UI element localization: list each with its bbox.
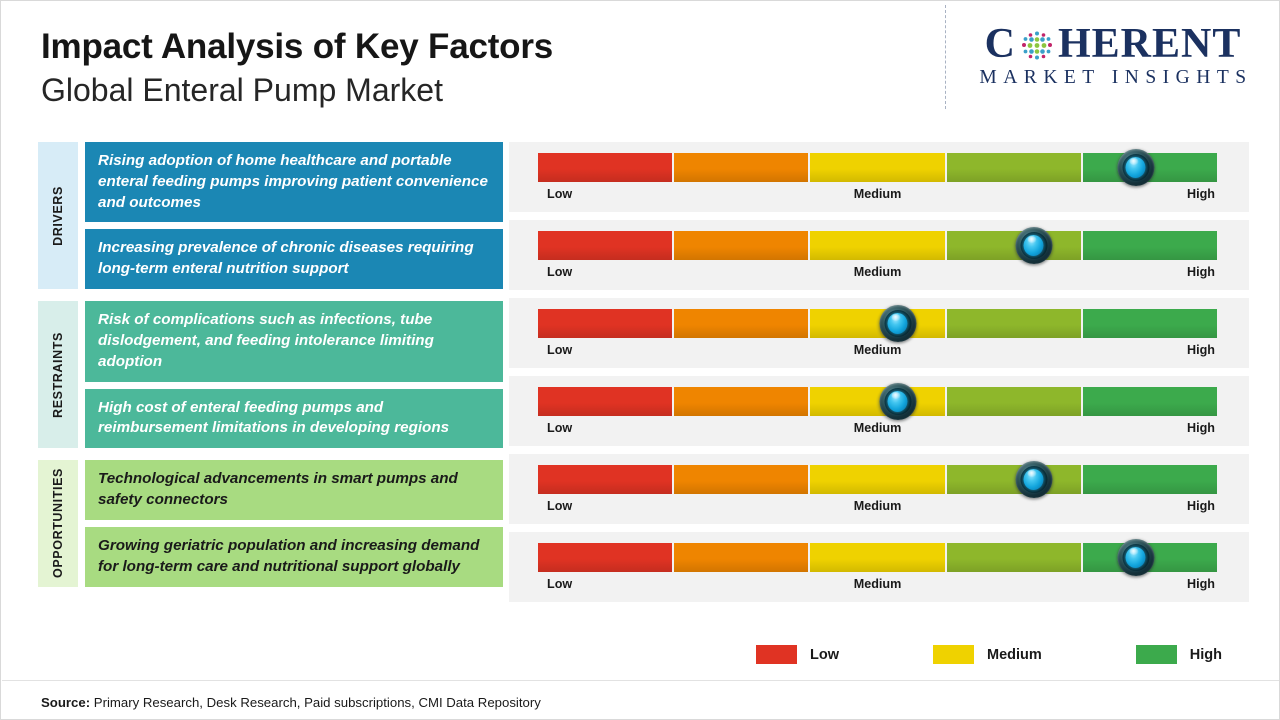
gauge-row: LowMediumHigh [509,298,1249,368]
gauge-marker-knob-icon[interactable] [879,383,916,420]
page-subtitle: Global Enteral Pump Market [41,72,553,109]
category-group-drivers: DRIVERS Rising adoption of home healthca… [38,142,503,289]
gauge-marker-knob-icon[interactable] [1015,227,1052,264]
legend-swatch [1136,645,1177,664]
legend-label: High [1190,647,1222,663]
gauge-segment-3 [810,543,944,572]
gauge-label-medium: Medium [854,577,902,591]
gauge-marker-knob-icon[interactable] [879,305,916,342]
category-label-restraints: RESTRAINTS [38,301,78,448]
category-boxes-restraints: Risk of complications such as infections… [85,301,503,448]
gauge-segment-3 [810,153,944,182]
gauge-label-high: High [1187,421,1215,435]
gauge-segment-2 [674,231,808,260]
gauge-label-medium: Medium [854,343,902,357]
factor-box: Technological advancements in smart pump… [85,460,503,520]
gauge-row: LowMediumHigh [509,532,1249,602]
gauge-label-low: Low [547,577,572,591]
category-boxes-drivers: Rising adoption of home healthcare and p… [85,142,503,289]
legend-item: Low [756,645,839,664]
gauge-row: LowMediumHigh [509,454,1249,524]
category-group-restraints: RESTRAINTS Risk of complications such as… [38,301,503,448]
gauge-segment-5 [1083,309,1217,338]
legend-label: Medium [987,647,1042,663]
gauge-scale-labels: LowMediumHigh [538,577,1217,597]
gauge-segment-2 [674,309,808,338]
legend-swatch [756,645,797,664]
legend: LowMediumHigh [756,645,1216,664]
gauge-scale-labels: LowMediumHigh [538,499,1217,519]
gauge-track [538,465,1217,494]
footer-divider [2,680,1279,681]
gauge-scale-labels: LowMediumHigh [538,187,1217,207]
legend-label: Low [810,647,839,663]
gauge-track [538,231,1217,260]
logo-tagline: MARKET INSIGHTS [963,67,1263,89]
category-label-restraints-text: RESTRAINTS [51,332,65,418]
gauge-label-high: High [1187,265,1215,279]
gauge-segment-2 [674,465,808,494]
gauge-label-high: High [1187,343,1215,357]
category-label-opportunities: OPPORTUNITIES [38,460,78,586]
gauge-segment-3 [810,231,944,260]
gauge-scale-labels: LowMediumHigh [538,265,1217,285]
gauge-marker-knob-icon[interactable] [1015,461,1052,498]
logo-letter-c: C [985,23,1016,65]
gauge-segment-4 [947,153,1081,182]
gauge-segment-4 [947,543,1081,572]
gauge-segment-4 [947,387,1081,416]
gauge-scale-labels: LowMediumHigh [538,343,1217,363]
logo-letters-herent: HERENT [1058,23,1241,65]
gauge-label-medium: Medium [854,499,902,513]
category-label-opportunities-text: OPPORTUNITIES [51,468,65,578]
gauge-segment-2 [674,543,808,572]
factor-box: High cost of enteral feeding pumps and r… [85,389,503,449]
gauge-marker-knob-icon[interactable] [1117,539,1154,576]
category-boxes-opportunities: Technological advancements in smart pump… [85,460,503,586]
gauge-label-low: Low [547,343,572,357]
logo-wordmark: C [963,23,1263,65]
legend-item: High [1136,645,1222,664]
gauge-label-low: Low [547,421,572,435]
gauge-segment-2 [674,387,808,416]
source-label: Source: [41,695,90,710]
gauge-row: LowMediumHigh [509,142,1249,212]
gauge-label-high: High [1187,499,1215,513]
factor-box: Growing geriatric population and increas… [85,527,503,587]
gauge-segment-1 [538,231,672,260]
gauge-label-medium: Medium [854,187,902,201]
header: Impact Analysis of Key Factors Global En… [1,1,1280,133]
factor-box: Increasing prevalence of chronic disease… [85,229,503,289]
gauge-label-high: High [1187,187,1215,201]
legend-item: Medium [933,645,1042,664]
gauge-marker-knob-icon[interactable] [1117,149,1154,186]
title-block: Impact Analysis of Key Factors Global En… [41,29,553,109]
legend-swatch [933,645,974,664]
logo-divider [945,5,946,109]
infographic-page: Impact Analysis of Key Factors Global En… [0,0,1280,720]
gauge-scale-labels: LowMediumHigh [538,421,1217,441]
gauge-segment-5 [1083,231,1217,260]
gauge-label-low: Low [547,499,572,513]
gauge-row: LowMediumHigh [509,376,1249,446]
company-logo: C [963,23,1263,89]
gauge-segment-5 [1083,465,1217,494]
gauge-row: LowMediumHigh [509,220,1249,290]
gauge-segment-1 [538,465,672,494]
impact-gauges-column: LowMediumHighLowMediumHighLowMediumHighL… [509,142,1249,610]
category-label-drivers: DRIVERS [38,142,78,289]
gauge-segment-2 [674,153,808,182]
gauge-segment-4 [947,309,1081,338]
gauge-segment-1 [538,153,672,182]
factors-column: DRIVERS Rising adoption of home healthca… [38,142,503,599]
gauge-label-low: Low [547,187,572,201]
gauge-label-high: High [1187,577,1215,591]
category-label-drivers-text: DRIVERS [51,186,65,246]
gauge-label-medium: Medium [854,265,902,279]
gauge-segment-1 [538,387,672,416]
gauge-segment-1 [538,543,672,572]
factor-box: Risk of complications such as infections… [85,301,503,381]
page-title: Impact Analysis of Key Factors [41,29,553,66]
category-group-opportunities: OPPORTUNITIES Technological advancements… [38,460,503,586]
factor-box: Rising adoption of home healthcare and p… [85,142,503,222]
gauge-label-low: Low [547,265,572,279]
gauge-label-medium: Medium [854,421,902,435]
dotted-globe-icon [1017,26,1057,66]
gauge-segment-3 [810,465,944,494]
source-note: Source: Primary Research, Desk Research,… [41,695,541,710]
gauge-segment-1 [538,309,672,338]
source-text: Primary Research, Desk Research, Paid su… [90,695,541,710]
gauge-segment-5 [1083,387,1217,416]
